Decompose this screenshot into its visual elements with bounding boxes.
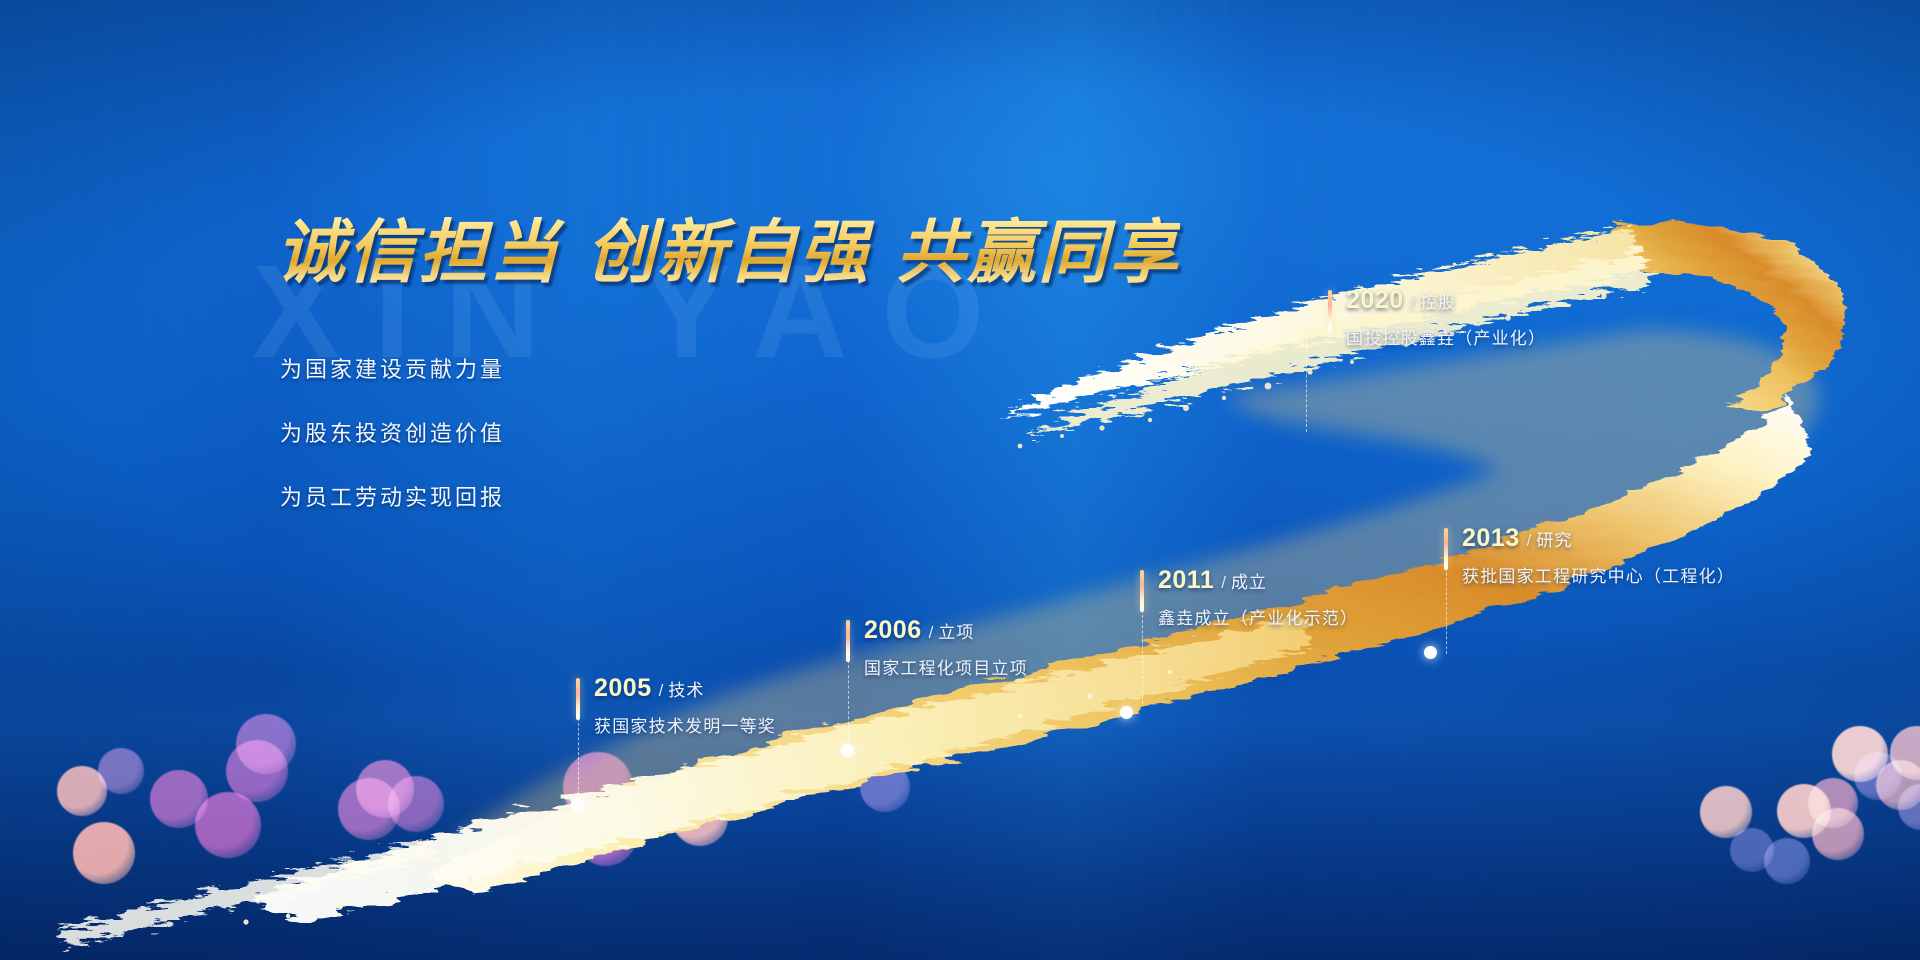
milestone-separator: / [929,623,934,642]
milestone-accent-bar [1444,528,1448,570]
milestone-year-line: 2020/控股 [1346,288,1546,313]
slogan-item: 为员工劳动实现回报 [280,480,505,512]
page-title: 诚信担当创新自强共赢同享 [276,196,1180,296]
slogan-list: 为国家建设贡献力量 为股东投资创造价值 为员工劳动实现回报 [280,352,505,544]
bokeh-light [1812,808,1864,860]
timeline-milestone-2013[interactable]: 2013/研究获批国家工程研究中心（工程化） [1444,526,1735,587]
timeline-node-dot[interactable] [1424,646,1437,659]
timeline-milestone-2011[interactable]: 2011/成立鑫垚成立（产业化示范） [1140,568,1358,629]
bokeh-light [98,748,144,794]
milestone-category: 研究 [1536,531,1572,550]
milestone-accent-bar [1140,570,1144,612]
milestone-separator: / [1221,573,1226,592]
milestone-year: 2013 [1462,524,1520,552]
milestone-separator: / [659,681,664,700]
bokeh-light [757,742,811,796]
timeline-milestone-2006[interactable]: 2006/立项国家工程化项目立项 [846,618,1028,679]
milestone-text-block: 2005/技术获国家技术发明一等奖 [576,676,776,737]
milestone-description: 获国家技术发明一等奖 [594,712,776,737]
milestone-description: 国家工程化项目立项 [864,654,1028,679]
slogan-item: 为股东投资创造价值 [280,416,505,448]
milestone-category: 技术 [668,681,704,700]
milestone-category: 成立 [1231,573,1267,592]
bokeh-light [388,776,444,832]
timeline-milestone-2005[interactable]: 2005/技术获国家技术发明一等奖 [576,676,776,737]
milestone-text-block: 2011/成立鑫垚成立（产业化示范） [1140,568,1358,629]
timeline-node-dot[interactable] [1120,706,1133,719]
timeline-node-dot[interactable] [841,744,854,757]
milestone-text-block: 2006/立项国家工程化项目立项 [846,618,1028,679]
milestone-year-line: 2006/立项 [864,618,1028,643]
bokeh-light [860,762,910,812]
headline-part-2: 创新自强 [586,214,870,291]
bokeh-light [672,790,728,846]
milestone-separator: / [1411,293,1416,312]
milestone-description: 获批国家工程研究中心（工程化） [1462,562,1735,587]
milestone-accent-bar [846,620,850,662]
bokeh-light [73,822,135,884]
milestone-year-line: 2013/研究 [1462,526,1735,551]
milestone-accent-bar [576,678,580,720]
timeline-leader-line [1306,330,1307,432]
milestone-year-line: 2011/成立 [1158,568,1358,593]
bokeh-light [236,714,296,774]
milestone-accent-bar [1328,290,1332,332]
timeline-node-dot[interactable] [571,798,584,811]
timeline-milestone-2020[interactable]: 2020/控股国投控股鑫垚（产业化） [1328,288,1546,349]
banner-canvas: XIN YAO 诚信担当创新自强共赢同享 为国家建设贡献力量 为股东投资创造价值… [0,0,1920,960]
bokeh-light [195,792,261,858]
headline-part-1: 诚信担当 [276,214,560,291]
bokeh-light [575,804,637,866]
milestone-category: 控股 [1420,293,1456,312]
milestone-text-block: 2020/控股国投控股鑫垚（产业化） [1328,288,1546,349]
milestone-category: 立项 [938,623,974,642]
milestone-year: 2006 [864,616,922,644]
milestone-year: 2011 [1158,566,1214,594]
milestone-description: 鑫垚成立（产业化示范） [1158,604,1358,629]
bokeh-light [1764,838,1810,884]
headline-part-3: 共赢同享 [896,214,1180,291]
slogan-item: 为国家建设贡献力量 [280,352,505,384]
milestone-year-line: 2005/技术 [594,676,776,701]
milestone-separator: / [1527,531,1532,550]
milestone-year: 2020 [1346,286,1404,314]
milestone-text-block: 2013/研究获批国家工程研究中心（工程化） [1444,526,1735,587]
milestone-description: 国投控股鑫垚（产业化） [1346,324,1546,349]
milestone-year: 2005 [594,674,652,702]
